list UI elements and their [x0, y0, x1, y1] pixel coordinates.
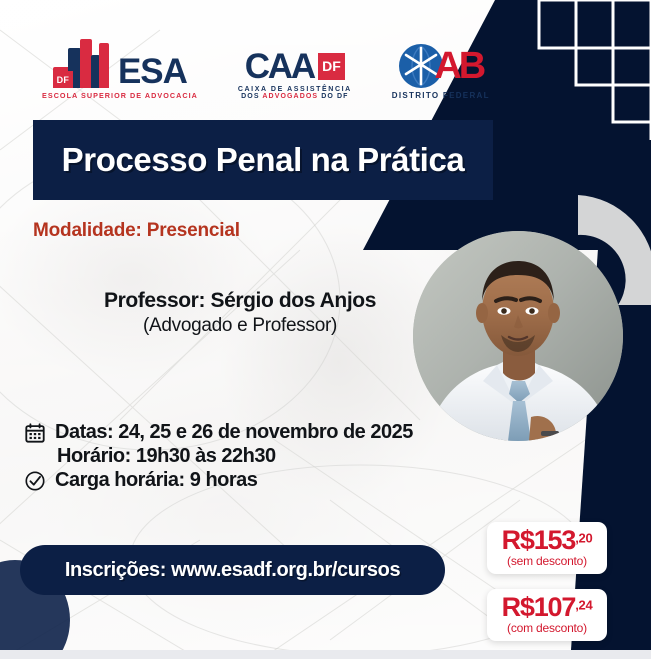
- page-title: Processo Penal na Prática: [62, 141, 465, 179]
- oab-subtitle: DISTRITO FEDERAL: [392, 91, 490, 100]
- title-banner: Processo Penal na Prática: [33, 120, 493, 200]
- price-discount-amount: R$107: [502, 594, 576, 621]
- caa-line2-pre: DOS: [241, 93, 262, 100]
- workload-row: Carga horária: 9 horas: [24, 469, 413, 492]
- course-info: Datas: 24, 25 e 26 de novembro de 2025 H…: [24, 421, 413, 492]
- dates-row: Datas: 24, 25 e 26 de novembro de 2025: [24, 421, 413, 444]
- price-full-cents: ,20: [575, 531, 592, 546]
- workload-text: Carga horária: 9 horas: [55, 469, 257, 492]
- caa-line2-post: DO DF: [318, 93, 348, 100]
- caa-df-badge: DF: [318, 53, 345, 80]
- grid-decoration: [491, 0, 651, 140]
- caa-subtitle-line1: CAIXA DE ASSISTÊNCIA: [238, 86, 352, 93]
- esa-subtitle: ESCOLA SUPERIOR DE ADVOCACIA: [42, 91, 198, 100]
- logo-row: DF ESA ESCOLA SUPERIOR DE ADVOCACIA CAA …: [42, 36, 490, 100]
- caa-wordmark: CAA: [245, 51, 314, 83]
- price-card-discount: R$107,24 (com desconto): [487, 589, 607, 641]
- course-poster: DF ESA ESCOLA SUPERIOR DE ADVOCACIA CAA …: [0, 0, 651, 659]
- modality-label: Modalidade: Presencial: [33, 220, 240, 242]
- instructor-portrait: [413, 231, 623, 441]
- caa-logo: CAA DF CAIXA DE ASSISTÊNCIA DOS ADVOGADO…: [238, 51, 352, 101]
- oab-logo: AB DISTRITO FEDERAL: [392, 43, 490, 100]
- price-card-full: R$153,20 (sem desconto): [487, 522, 607, 574]
- professor-name: Professor: Sérgio dos Anjos: [60, 289, 420, 313]
- clock-check-icon: [24, 470, 46, 492]
- esa-logo: DF ESA ESCOLA SUPERIOR DE ADVOCACIA: [42, 36, 198, 100]
- esa-books-icon: DF: [53, 36, 111, 88]
- professor-role: (Advogado e Professor): [60, 315, 420, 337]
- bottom-strip: [0, 650, 651, 659]
- price-full-value: R$153,20: [493, 527, 601, 554]
- caa-line2-highlight: ADVOGADOS: [262, 93, 318, 100]
- dates-text: Datas: 24, 25 e 26 de novembro de 2025: [55, 421, 413, 444]
- price-full-amount: R$153: [502, 527, 576, 554]
- schedule-row: Horário: 19h30 às 22h30: [24, 445, 413, 468]
- price-full-note: (sem desconto): [493, 554, 601, 568]
- price-discount-cents: ,24: [575, 598, 592, 613]
- esa-df-badge: DF: [53, 71, 73, 88]
- caa-subtitle-line2: DOS ADVOGADOS DO DF: [241, 93, 348, 100]
- price-discount-value: R$107,24: [493, 594, 601, 621]
- registration-text: Inscrições: www.esadf.org.br/cursos: [65, 559, 400, 582]
- registration-button[interactable]: Inscrições: www.esadf.org.br/cursos: [20, 545, 445, 595]
- esa-wordmark: ESA: [118, 57, 187, 88]
- price-discount-note: (com desconto): [493, 621, 601, 635]
- calendar-icon: [24, 422, 46, 444]
- professor-block: Professor: Sérgio dos Anjos (Advogado e …: [60, 289, 420, 337]
- schedule-text: Horário: 19h30 às 22h30: [24, 445, 276, 468]
- oab-wordmark: AB: [434, 50, 483, 82]
